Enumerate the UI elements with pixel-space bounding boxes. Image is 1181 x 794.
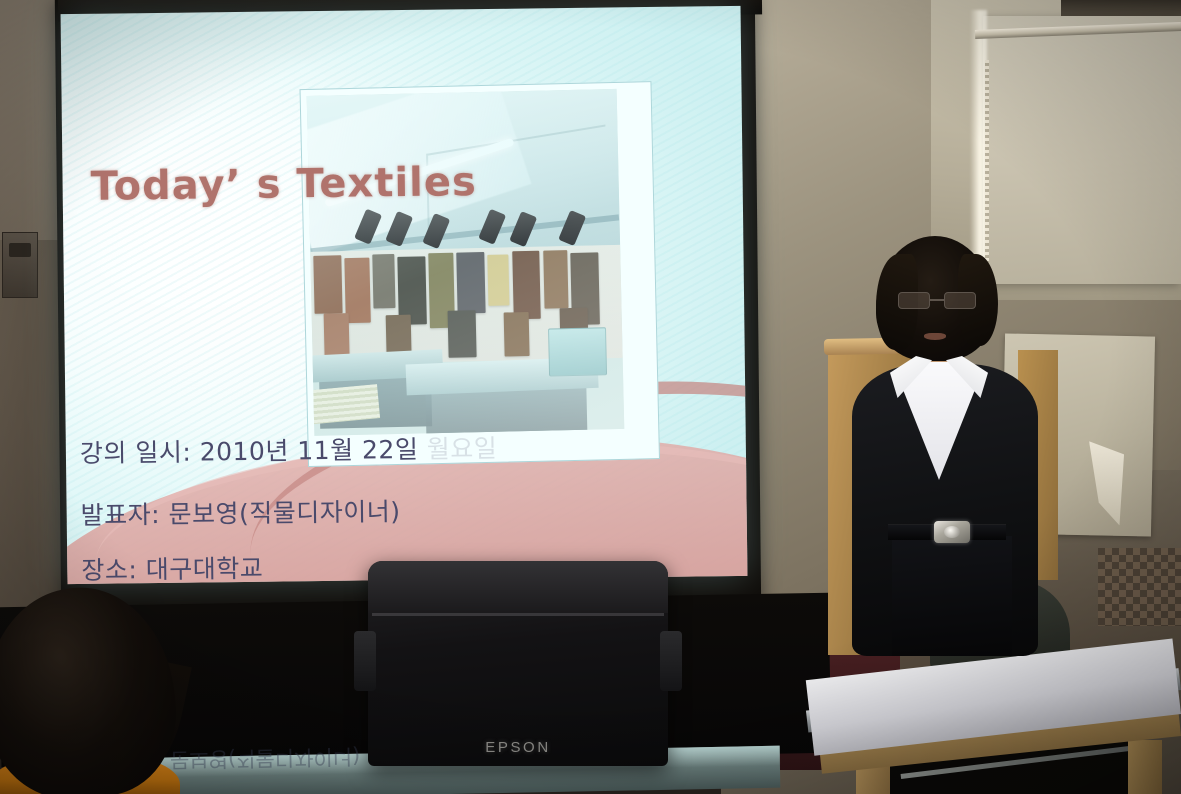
slide-line-date-label: 강의 일시: bbox=[80, 438, 192, 468]
projected-slide: Today’ s Textiles 강의 일시: 2010년 11월 22일 월… bbox=[61, 6, 748, 584]
bag-seam bbox=[372, 613, 664, 616]
epson-projector-bag: EPSON bbox=[368, 561, 668, 766]
photo-textile-swatch bbox=[448, 310, 477, 358]
slide-line-venue: 장소: 대구대학교 bbox=[81, 549, 263, 584]
slide-line-date-value: 2010년 11월 22일 bbox=[200, 435, 419, 467]
glasses-bridge bbox=[930, 299, 944, 301]
bag-strap-right bbox=[660, 631, 682, 691]
slide-reflection-text: 문보영(직물디자이너) bbox=[170, 742, 361, 776]
slide-line-date: 강의 일시: 2010년 11월 22일 월요일 bbox=[80, 429, 498, 470]
slide-line-venue-label: 장소: bbox=[81, 555, 137, 584]
bag-strap-left bbox=[354, 631, 376, 691]
slide-line-venue-value: 대구대학교 bbox=[146, 554, 264, 584]
slide-line-presenter: 발표자: 문보영(직물디자이너) bbox=[80, 492, 400, 532]
slide-photo bbox=[307, 89, 625, 436]
photo-textile-swatch bbox=[372, 254, 395, 309]
slide-photo-frame bbox=[300, 81, 660, 467]
photo-fabric-stack bbox=[309, 384, 380, 424]
photo-textile-swatch bbox=[543, 250, 569, 308]
photo-textile-swatch bbox=[313, 255, 342, 313]
glasses-lens-right bbox=[944, 292, 976, 309]
checkered-chair bbox=[1098, 548, 1181, 626]
photo-textile-swatch bbox=[512, 251, 541, 320]
photo-textile-swatch bbox=[504, 312, 530, 357]
presenter bbox=[846, 236, 1052, 656]
epson-logo: EPSON bbox=[368, 739, 668, 756]
slide-line-presenter-label: 발표자: bbox=[80, 500, 160, 530]
photo-textile-swatch bbox=[456, 252, 485, 314]
lecture-room-photo: 기~ bbox=[0, 0, 1181, 794]
presenter-glasses bbox=[898, 292, 976, 309]
bag-lid bbox=[368, 561, 668, 613]
presenter-mouth bbox=[924, 333, 946, 340]
photo-textile-swatch bbox=[386, 315, 412, 356]
slide-line-date-weekday: 월요일 bbox=[427, 434, 498, 464]
photo-textile-swatch bbox=[487, 255, 510, 306]
presenter-belt-buckle bbox=[934, 521, 970, 543]
wall-socket bbox=[2, 232, 38, 298]
photo-textile-swatch bbox=[324, 313, 350, 358]
presenter-skirt bbox=[892, 536, 1012, 656]
slide-line-presenter-value: 문보영(직물디자이너) bbox=[168, 497, 400, 529]
slide-title: Today’ s Textiles bbox=[90, 159, 477, 210]
photo-storage-bin bbox=[548, 327, 608, 376]
table-leg bbox=[1128, 740, 1162, 794]
glasses-lens-left bbox=[898, 292, 930, 309]
